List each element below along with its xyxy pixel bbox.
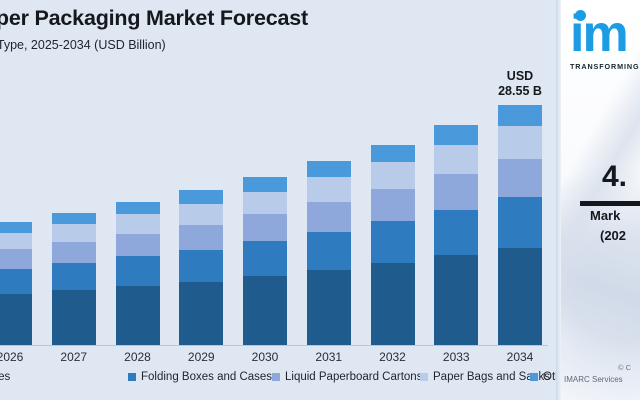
bar-2026 xyxy=(0,222,32,345)
bar-segment-2032-1 xyxy=(371,221,415,263)
bar-segment-2029-1 xyxy=(179,250,223,282)
cagr-caption-line1: Mark xyxy=(590,208,640,223)
cagr-value: 4. xyxy=(602,160,640,194)
bar-segment-2034-1 xyxy=(498,197,542,247)
bar-segment-2028-2 xyxy=(116,234,160,257)
bar-segment-2026-1 xyxy=(0,269,32,294)
bar-segment-2030-3 xyxy=(243,192,287,215)
plot-area xyxy=(0,52,556,345)
legend-item-0[interactable]: oxes xyxy=(0,371,10,383)
brand-panel: im TRANSFORMING 4. Mark (202 © C IMARC S… xyxy=(556,0,640,400)
page-title: Paper Packaging Market Forecast xyxy=(0,6,530,31)
bar-segment-2031-0 xyxy=(307,270,351,345)
bar-segment-2029-0 xyxy=(179,282,223,345)
chart-subtitle: duct Type, 2025-2034 (USD Billion) xyxy=(0,38,530,52)
chart-legend: oxesFolding Boxes and CasesLiquid Paperb… xyxy=(0,371,556,391)
bar-segment-2030-0 xyxy=(243,276,287,345)
bar-segment-2029-3 xyxy=(179,204,223,225)
x-tick-2034: 2034 xyxy=(475,350,556,364)
legend-label: Others xyxy=(543,371,556,383)
bar-2029 xyxy=(179,190,223,345)
value-label-amount: 28.55 B xyxy=(475,84,556,99)
bar-segment-2031-1 xyxy=(307,232,351,270)
bar-segment-2032-3 xyxy=(371,162,415,189)
legend-swatch-icon xyxy=(272,373,280,381)
legend-item-1[interactable]: Folding Boxes and Cases xyxy=(128,371,272,383)
bar-segment-2026-2 xyxy=(0,249,32,268)
legend-swatch-icon xyxy=(420,373,428,381)
legend-label: oxes xyxy=(0,371,10,383)
imarc-logo: im xyxy=(570,8,627,60)
bar-segment-2034-4 xyxy=(498,105,542,126)
legend-item-2[interactable]: Liquid Paperboard Cartons xyxy=(272,371,422,383)
bar-segment-2031-4 xyxy=(307,161,351,177)
legend-item-4[interactable]: Others xyxy=(530,371,556,383)
bar-segment-2030-2 xyxy=(243,214,287,241)
bar-segment-2028-4 xyxy=(116,202,160,215)
bar-segment-2029-4 xyxy=(179,190,223,203)
chart-panel: Paper Packaging Market Forecast duct Typ… xyxy=(0,0,556,400)
bar-segment-2027-0 xyxy=(52,290,96,345)
bar-2032 xyxy=(371,145,415,345)
bar-segment-2034-2 xyxy=(498,159,542,197)
bar-segment-2031-3 xyxy=(307,177,351,202)
cagr-rule xyxy=(580,201,640,206)
legend-label: Folding Boxes and Cases xyxy=(141,371,272,383)
bar-segment-2027-1 xyxy=(52,263,96,290)
bar-segment-2033-0 xyxy=(434,255,478,345)
bar-segment-2026-0 xyxy=(0,294,32,345)
legend-label: Liquid Paperboard Cartons xyxy=(285,371,422,383)
cagr-caption-line2: (202 xyxy=(600,228,640,243)
bar-segment-2033-3 xyxy=(434,145,478,175)
bar-segment-2034-3 xyxy=(498,126,542,159)
bar-2034 xyxy=(498,105,542,345)
bar-segment-2027-4 xyxy=(52,213,96,224)
bar-segment-2032-0 xyxy=(371,263,415,345)
bar-segment-2032-4 xyxy=(371,145,415,163)
bar-segment-2032-2 xyxy=(371,189,415,221)
bar-segment-2026-3 xyxy=(0,233,32,249)
bar-segment-2030-4 xyxy=(243,177,287,192)
bar-2027 xyxy=(52,213,96,345)
bar-2030 xyxy=(243,177,287,345)
bar-segment-2031-2 xyxy=(307,202,351,231)
bar-segment-2027-3 xyxy=(52,224,96,242)
panel-divider xyxy=(556,0,561,400)
bar-segment-2028-3 xyxy=(116,214,160,233)
bar-segment-2030-1 xyxy=(243,241,287,276)
value-label-2034: USD28.55 B xyxy=(475,69,556,99)
bar-segment-2034-0 xyxy=(498,248,542,346)
bar-2031 xyxy=(307,161,351,345)
bar-segment-2029-2 xyxy=(179,225,223,250)
logo-dot-icon xyxy=(575,10,586,21)
value-label-currency: USD xyxy=(475,69,556,84)
x-axis-line xyxy=(0,345,548,346)
bar-2033 xyxy=(434,125,478,345)
bar-segment-2026-4 xyxy=(0,222,32,233)
chart-screenshot: Paper Packaging Market Forecast duct Typ… xyxy=(0,0,640,400)
legend-swatch-icon xyxy=(128,373,136,381)
copyright-text: IMARC Services xyxy=(564,375,623,384)
bar-segment-2028-0 xyxy=(116,286,160,345)
legend-swatch-icon xyxy=(530,373,538,381)
bar-segment-2028-1 xyxy=(116,256,160,285)
bar-segment-2033-1 xyxy=(434,210,478,256)
bar-segment-2033-2 xyxy=(434,174,478,209)
bar-segment-2033-4 xyxy=(434,125,478,144)
bar-segment-2027-2 xyxy=(52,242,96,263)
logo-tagline: TRANSFORMING xyxy=(570,62,640,71)
bar-2028 xyxy=(116,202,160,345)
copyright-symbol: © C xyxy=(618,363,631,372)
